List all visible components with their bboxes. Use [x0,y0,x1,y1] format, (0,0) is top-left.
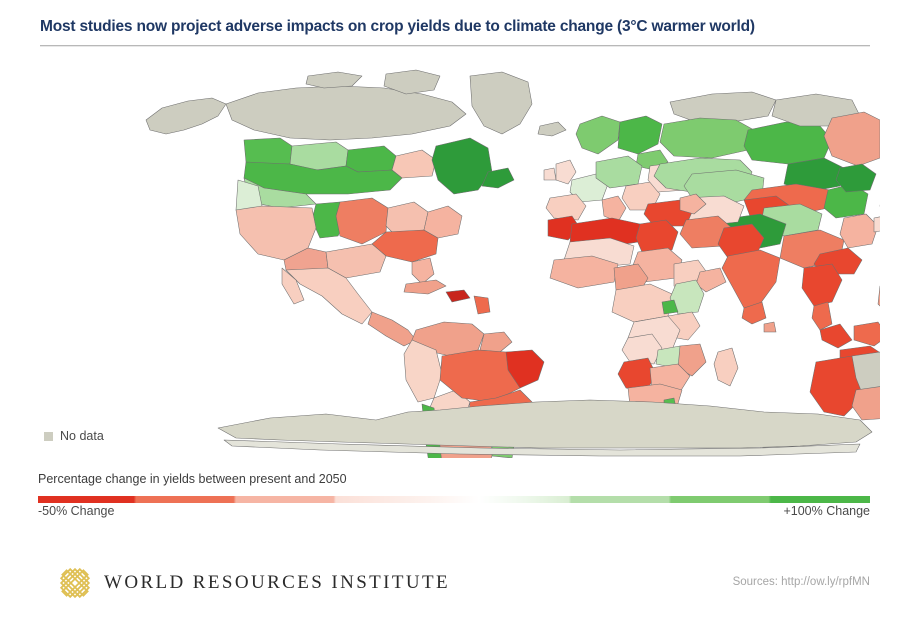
region-us-florida [412,258,434,284]
region-russia-arctic-nodata [670,92,776,122]
world-map-svg[interactable] [140,68,880,458]
title-block: Most studies now project adverse impacts… [40,18,870,47]
region-us-east-coast [424,206,462,238]
region-malay-peninsula [812,302,832,330]
region-antarctica [218,400,872,448]
region-germany-poland [596,156,642,188]
region-russia-central [744,122,832,164]
region-hispaniola [446,290,470,302]
world-map[interactable] [140,68,880,458]
page-title: Most studies now project adverse impacts… [40,18,870,36]
region-india [722,250,780,308]
legend-gradient-bar [38,490,870,497]
region-greenland [470,72,532,134]
title-divider [40,45,870,47]
no-data-legend: No data [44,429,104,443]
region-arctic-canada [226,86,466,140]
region-south-australia [852,386,880,420]
slide-canvas: Most studies now project adverse impacts… [0,0,906,624]
region-siberia-east-salmon [824,112,880,166]
region-italy [602,196,626,222]
region-scandinavia-norway [576,116,620,154]
region-guianas [480,332,512,352]
region-west-africa-coast [550,256,618,288]
region-antilles [474,296,490,314]
wri-logo-icon [58,566,92,600]
legend-min-label: -50% Change [38,504,114,518]
region-sri-lanka [764,322,776,332]
region-madagascar [714,348,738,386]
region-indochina [802,264,842,306]
legend-caption: Percentage change in yields between pres… [38,472,870,486]
region-korea [874,216,880,232]
region-philippines [878,282,880,314]
no-data-label: No data [60,429,104,443]
region-russia-west [660,118,754,158]
region-ireland [544,168,556,180]
region-central-america [368,312,416,346]
brand-name: WORLD RESOURCES INSTITUTE [104,572,450,594]
color-scale-legend: Percentage change in yields between pres… [38,472,870,518]
region-sweden-finland [618,116,662,154]
region-arctic-islands [306,72,362,88]
sources-note: Sources: http://ow.ly/rpfMN [733,576,870,588]
region-cuba [404,280,446,294]
region-alaska [146,98,226,134]
footer: WORLD RESOURCES INSTITUTE Sources: http:… [0,560,906,624]
legend-max-label: +100% Change [783,504,870,518]
region-canada-ontario [392,150,436,178]
region-iceland [538,122,566,136]
region-canada-saskatchewan [346,146,396,172]
legend-gradient-svg [38,496,870,503]
region-china-east-coast [840,214,878,248]
region-borneo [854,322,880,346]
legend-end-labels: -50% Change +100% Change [38,504,870,518]
brand-lockup: WORLD RESOURCES INSTITUTE [58,566,450,600]
no-data-swatch [44,432,53,441]
